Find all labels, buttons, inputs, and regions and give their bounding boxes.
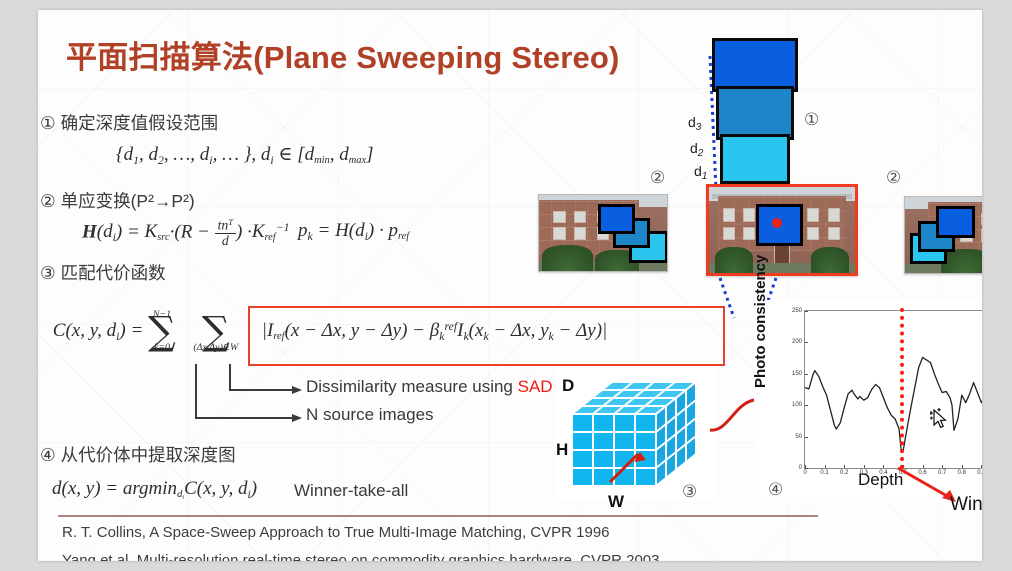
x-tick-label: 0.2 <box>840 470 848 476</box>
window <box>829 209 839 220</box>
door <box>775 244 790 263</box>
reference-pixel-marker <box>772 218 782 228</box>
cube-axis-label-width: W <box>608 492 624 512</box>
cube-axis-label-depth: D <box>562 376 574 396</box>
circled-number-frustum: ① <box>804 110 819 130</box>
step-3: ③ 匹配代价函数 <box>40 260 166 285</box>
window <box>554 212 564 223</box>
slide-canvas: 平面扫描算法(Plane Sweeping Stereo) ① 确定深度值假设范… <box>38 10 982 561</box>
bush <box>811 247 849 273</box>
reference-2: Yang et al. Multi-resolution real-time s… <box>62 552 660 561</box>
formula-homography: H(di) = Ksrc·(R − tnTd) ·Kref−1 <box>82 218 290 248</box>
depth-label-d3: d3 <box>688 114 701 133</box>
annotation-bracket-lines <box>188 360 308 430</box>
window <box>554 228 564 239</box>
winner-marker-line <box>900 308 904 469</box>
circled-number-chart: ④ <box>768 480 783 500</box>
step-4: ④ 从代价体中提取深度图 <box>40 442 236 467</box>
x-tick-label: 0 <box>803 470 806 476</box>
slide-frame: 平面扫描算法(Plane Sweeping Stereo) ① 确定深度值假设范… <box>0 0 1012 571</box>
annotation-dissimilarity-text: Dissimilarity measure using <box>306 377 518 396</box>
annotation-sad: SAD <box>518 377 553 396</box>
bush <box>542 245 593 271</box>
winner-label: Winner <box>950 494 982 516</box>
circled-number-source-left: ② <box>650 168 665 188</box>
circled-number-cost-volume: ③ <box>682 482 697 502</box>
depth-plane-d3 <box>712 38 798 92</box>
annotation-dissimilarity: Dissimilarity measure using SAD <box>306 377 553 397</box>
y-tick-label: 200 <box>792 339 802 345</box>
sum-outer: N−1 ∑ k=0 <box>148 310 176 353</box>
page-title: 平面扫描算法(Plane Sweeping Stereo) <box>66 32 620 77</box>
formula-depth-range: {d1, d2, …, di, … }, di ∈ [dmin, dmax] <box>116 143 374 168</box>
cost-volume-figure <box>556 368 716 500</box>
bush <box>941 249 982 273</box>
formula-argmin: d(x, y) = argmindiC(x, y, di) <box>52 478 257 502</box>
window <box>808 228 818 239</box>
cost-function-highlight-box <box>248 306 725 366</box>
photo-consistency-chart: Photo consistency 0 50 100 150 200 250 0… <box>754 300 982 503</box>
reference-divider <box>58 515 818 517</box>
step-2-label: 单应变换(P²→P²) <box>61 191 195 211</box>
depth-plane-d2 <box>716 86 794 140</box>
step-4-label: 从代价体中提取深度图 <box>61 445 236 465</box>
source-patch-d3 <box>598 204 635 234</box>
cube-axis-label-height: H <box>556 440 568 460</box>
step-4-marker: ④ <box>40 445 56 465</box>
chart-data-curve <box>805 311 982 468</box>
cost-volume-cube <box>556 368 716 500</box>
annotation-winner-take-all: Winner-take-all <box>294 481 408 501</box>
source-image-right <box>904 196 982 274</box>
reference-image <box>706 184 858 276</box>
depth-plane-d1 <box>720 134 790 184</box>
y-tickmark <box>805 468 808 469</box>
window <box>724 209 734 220</box>
depth-label-d2: d2 <box>690 140 703 159</box>
window <box>575 212 585 223</box>
step-2-marker: ② <box>40 191 56 211</box>
source-patch-d3 <box>936 206 975 238</box>
formula-projection: pk = H(di) · pref <box>298 220 409 244</box>
y-tick-label: 100 <box>792 402 802 408</box>
annotation-n-source-images: N source images <box>306 405 434 425</box>
source-image-left <box>538 194 668 272</box>
window <box>575 228 585 239</box>
window <box>829 228 839 239</box>
step-3-marker: ③ <box>40 263 56 283</box>
sum-inner: ∑ (Δx,Δy)∈W <box>193 310 238 353</box>
window <box>744 209 754 220</box>
y-tick-label: 150 <box>792 371 802 377</box>
step-1-marker: ① <box>40 113 56 133</box>
depth-label-d1: d1 <box>694 163 707 182</box>
step-1-label: 确定深度值假设范围 <box>61 113 219 133</box>
window <box>724 228 734 239</box>
x-tick-label: 0.1 <box>820 470 828 476</box>
reference-1: R. T. Collins, A Space-Sweep Approach to… <box>62 524 610 541</box>
step-3-label: 匹配代价函数 <box>61 263 166 283</box>
bush <box>715 247 753 273</box>
y-tick-label: 0 <box>799 465 802 471</box>
y-tick-label: 250 <box>792 308 802 314</box>
window <box>808 209 818 220</box>
chart-plot-area: 0 50 100 150 200 250 0 0.1 0.2 0.3 0.4 0… <box>804 310 982 469</box>
window <box>744 228 754 239</box>
step-1: ① 确定深度值假设范围 <box>40 110 218 135</box>
step-2: ② 单应变换(P²→P²) <box>40 188 195 213</box>
circled-number-source-right: ② <box>886 168 901 188</box>
chart-y-axis-label: Photo consistency <box>752 255 769 388</box>
y-tick-label: 50 <box>795 434 802 440</box>
mouse-cursor-icon <box>930 408 952 432</box>
